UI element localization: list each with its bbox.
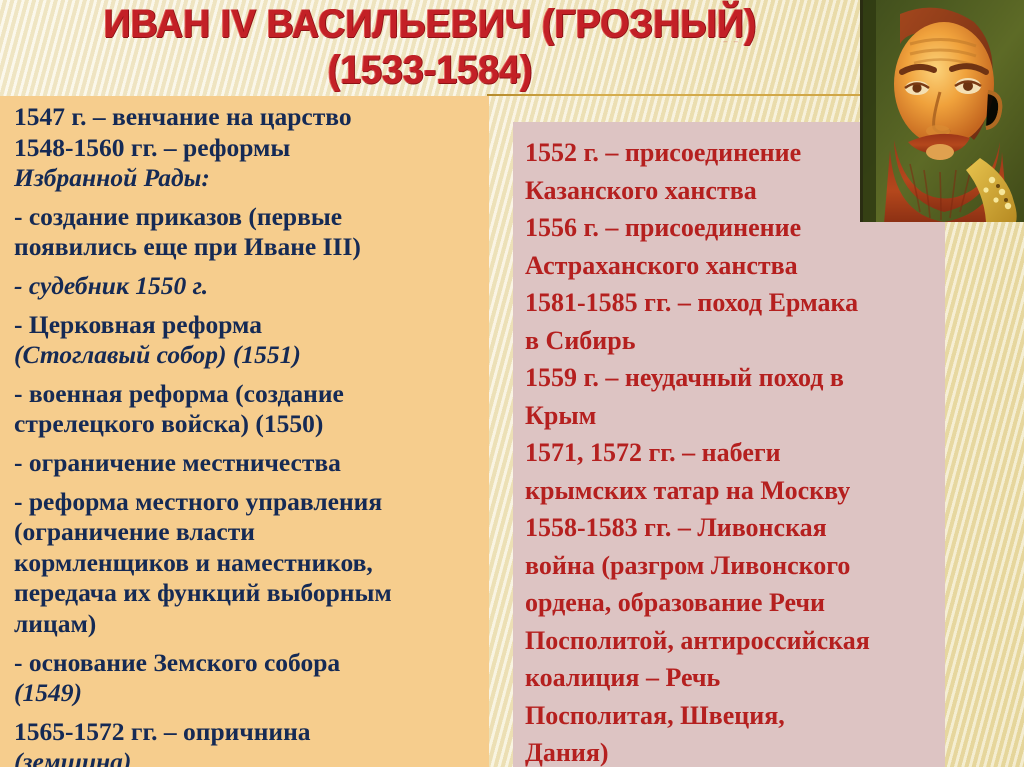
left-panel-spacer [14, 709, 485, 717]
left-panel-line: - Церковная реформа [14, 310, 485, 341]
left-panel-line: - ограничение местничества [14, 448, 485, 479]
left-panel-line: (ограничение власти [14, 517, 485, 548]
right-panel-line: 1571, 1572 гг. – набеги [525, 434, 941, 472]
right-panel-line: война (разгром Ливонского [525, 547, 941, 585]
right-panel-line: Астраханского ханства [525, 247, 941, 285]
left-panel-spacer [14, 440, 485, 448]
right-panel-line: Крым [525, 397, 941, 435]
right-panel-lines: 1552 г. – присоединениеКазанского ханств… [525, 134, 941, 767]
slide-title-text-1: ИВАН IV ВАСИЛЬЕВИЧ (ГРОЗНЫЙ) [26, 2, 834, 46]
left-panel-line: - военная реформа (создание [14, 379, 485, 410]
left-panel-line: 1547 г. – венчание на царство [14, 102, 485, 133]
left-panel-line: - судебник 1550 г. [14, 271, 485, 302]
left-panel-spacer [14, 479, 485, 487]
left-panel-spacer [14, 194, 485, 202]
left-panel-line: кормленщиков и наместников, [14, 548, 485, 579]
portrait-frame [860, 0, 1024, 222]
left-panel-spacer [14, 640, 485, 648]
left-panel-line: Избранной Рады: [14, 163, 485, 194]
right-panel-line: 1559 г. – неудачный поход в [525, 359, 941, 397]
left-reforms-panel: 1547 г. – венчание на царство1548-1560 г… [0, 96, 489, 767]
right-panel-line: коалиция – Речь [525, 659, 941, 697]
right-panel-line: крымских татар на Москву [525, 472, 941, 510]
right-panel-line: Посполитая, Швеция, [525, 697, 941, 735]
slide-title-line1: ИВАН IV ВАСИЛЬЕВИЧ (ГРОЗНЫЙ) [0, 2, 860, 46]
left-panel-line: передача их функций выборным [14, 578, 485, 609]
right-panel-line: ордена, образование Речи [525, 584, 941, 622]
left-panel-spacer [14, 371, 485, 379]
left-panel-line: - основание Земского собора [14, 648, 485, 679]
left-panel-line: 1548-1560 гг. – реформы [14, 133, 485, 164]
left-panel-spacer [14, 263, 485, 271]
left-panel-line: (земщина) [14, 747, 485, 767]
left-panel-line: - создание приказов (первые [14, 202, 485, 233]
left-panel-line: (1549) [14, 678, 485, 709]
left-panel-spacer [14, 302, 485, 310]
left-panel-line: стрелецкого войска) (1550) [14, 409, 485, 440]
right-panel-line: в Сибирь [525, 322, 941, 360]
left-panel-line: - реформа местного управления [14, 487, 485, 518]
left-panel-line: появились еще при Иване III) [14, 232, 485, 263]
left-panel-line: 1565-1572 гг. – опричнина [14, 717, 485, 748]
right-panel-line: Дания) [525, 734, 941, 767]
left-panel-lines: 1547 г. – венчание на царство1548-1560 г… [14, 102, 485, 767]
right-panel-line: 1558-1583 гг. – Ливонская [525, 509, 941, 547]
ivan-iv-portrait [860, 0, 1024, 222]
right-panel-line: 1581-1585 гг. – поход Ермака [525, 284, 941, 322]
slide-title-line2: (1533-1584) [0, 48, 860, 92]
left-panel-line: лицам) [14, 609, 485, 640]
slide-title-text-2: (1533-1584) [26, 48, 834, 92]
left-panel-line: (Стоглавый собор) (1551) [14, 340, 485, 371]
presentation-slide: ИВАН IV ВАСИЛЬЕВИЧ (ГРОЗНЫЙ) ИВАН IV ВАС… [0, 0, 1024, 767]
right-panel-line: Посполитой, антироссийская [525, 622, 941, 660]
